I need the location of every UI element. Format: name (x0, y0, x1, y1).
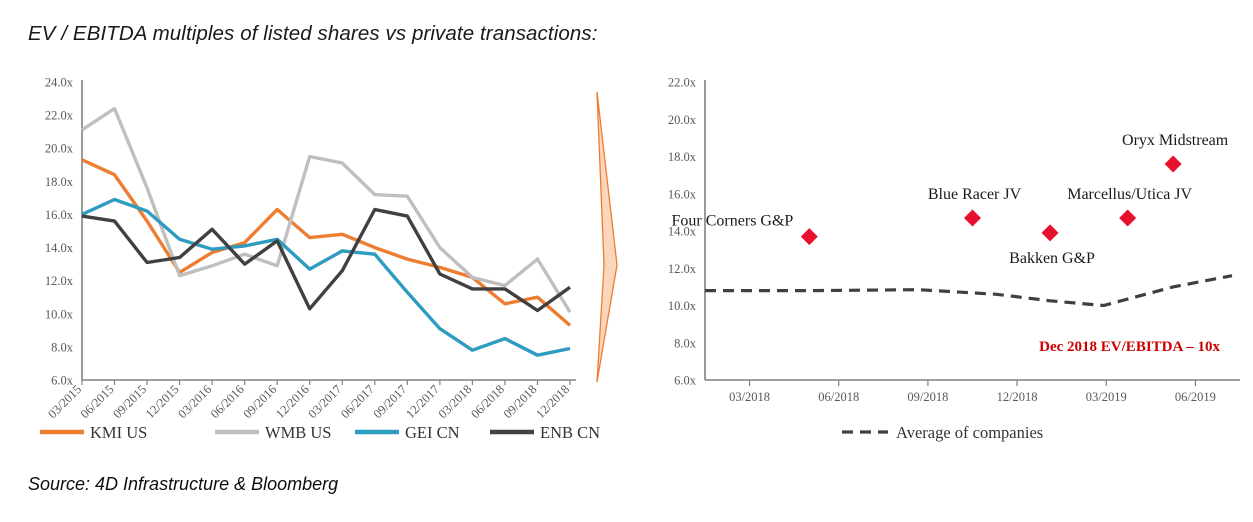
legend-item-kmi-us[interactable]: KMI US (40, 423, 147, 442)
page-title: EV / EBITDA multiples of listed shares v… (28, 22, 598, 46)
y-axis-tick-label: 8.0x (51, 340, 74, 354)
y-axis-tick-label: 20.0x (45, 142, 74, 156)
legend-label: WMB US (265, 423, 331, 442)
legend-label: Average of companies (896, 423, 1043, 442)
legend-label: KMI US (90, 423, 147, 442)
data-point-label: Four Corners G&P (672, 213, 794, 230)
y-axis-tick-label: 6.0x (674, 374, 697, 388)
x-axis-tick-label: 06/2016 (208, 382, 247, 421)
private-transactions-chart: 22.0x20.0x18.0x16.0x14.0x12.0x10.0x8.0x6… (620, 60, 1253, 475)
y-axis-tick-label: 22.0x (45, 109, 74, 123)
y-axis-tick-label: 14.0x (45, 241, 74, 255)
legend-item-enb-cn[interactable]: ENB CN (490, 423, 600, 442)
data-point-label: Blue Racer JV (928, 186, 1022, 203)
slide-root: EV / EBITDA multiples of listed shares v… (0, 0, 1253, 522)
legend-item-wmb-us[interactable]: WMB US (215, 423, 331, 442)
y-axis-tick-label: 24.0x (45, 76, 74, 90)
source-note: Source: 4D Infrastructure & Bloomberg (28, 474, 338, 495)
x-axis-tick-label: 06/2017 (338, 382, 377, 421)
x-axis-tick-label: 09/2018 (907, 390, 948, 404)
x-axis-tick-label: 03/2018 (436, 382, 475, 421)
legend-label: GEI CN (405, 423, 460, 442)
data-point-label: Oryx Midstream (1122, 132, 1229, 149)
y-axis-tick-label: 18.0x (45, 175, 74, 189)
x-axis-tick-label: 12/2018 (997, 390, 1038, 404)
legend-label: ENB CN (540, 423, 600, 442)
x-axis-tick-label: 09/2015 (110, 382, 149, 421)
data-point-oryx-midstream[interactable] (1165, 155, 1182, 172)
legend-item-gei-cn[interactable]: GEI CN (355, 423, 460, 442)
average-of-companies-line (705, 276, 1232, 306)
diamond-marker (1042, 224, 1059, 241)
ev-ebitda-annotation: Dec 2018 EV/EBITDA – 10x (1039, 339, 1220, 355)
x-axis-tick-label: 12/2015 (143, 382, 182, 421)
y-axis-tick-label: 10.0x (668, 299, 697, 313)
y-axis-tick-label: 12.0x (668, 262, 697, 276)
data-point-four-corners-g-p[interactable] (801, 228, 818, 245)
y-axis-tick-label: 16.0x (668, 187, 697, 201)
data-point-marcellus-utica-jv[interactable] (1119, 209, 1136, 226)
diamond-marker (801, 228, 818, 245)
diamond-marker (1165, 155, 1182, 172)
data-point-label: Bakken G&P (1009, 250, 1095, 267)
listed-shares-svg: 24.0x22.0x20.0x18.0x16.0x14.0x12.0x10.0x… (0, 60, 620, 475)
private-transactions-svg: 22.0x20.0x18.0x16.0x14.0x12.0x10.0x8.0x6… (620, 60, 1253, 475)
x-axis-tick-label: 06/2019 (1175, 390, 1216, 404)
x-axis-tick-label: 03/2017 (306, 382, 345, 421)
series-line-gei-cn (82, 200, 570, 356)
y-axis-tick-label: 22.0x (668, 76, 697, 90)
listed-shares-chart: 24.0x22.0x20.0x18.0x16.0x14.0x12.0x10.0x… (0, 60, 620, 475)
x-axis-tick-label: 03/2016 (175, 382, 214, 421)
series-line-wmb-us (82, 109, 570, 313)
data-point-bakken-g-p[interactable] (1042, 224, 1059, 241)
x-axis-tick-label: 09/2017 (371, 382, 410, 421)
transition-arrow-icon (597, 92, 617, 382)
x-axis-tick-label: 03/2019 (1086, 390, 1127, 404)
data-point-label: Marcellus/Utica JV (1067, 186, 1192, 203)
y-axis-tick-label: 12.0x (45, 274, 74, 288)
diamond-marker (1119, 209, 1136, 226)
y-axis-tick-label: 20.0x (668, 113, 697, 127)
x-axis-tick-label: 09/2018 (501, 382, 540, 421)
y-axis-tick-label: 18.0x (668, 150, 697, 164)
x-axis-tick-label: 03/2015 (45, 382, 84, 421)
x-axis-tick-label: 12/2018 (533, 382, 572, 421)
x-axis-tick-label: 09/2016 (240, 382, 279, 421)
diamond-marker (964, 209, 981, 226)
x-axis-tick-label: 06/2015 (78, 382, 117, 421)
y-axis-tick-label: 10.0x (45, 307, 74, 321)
x-axis-tick-label: 12/2017 (403, 382, 442, 421)
x-axis-tick-label: 06/2018 (468, 382, 507, 421)
series-line-kmi-us (82, 160, 570, 326)
x-axis-tick-label: 03/2018 (729, 390, 770, 404)
y-axis-tick-label: 8.0x (674, 336, 697, 350)
data-point-blue-racer-jv[interactable] (964, 209, 981, 226)
y-axis-tick-label: 16.0x (45, 208, 74, 222)
x-axis-tick-label: 06/2018 (818, 390, 859, 404)
legend-item-average-of-companies[interactable]: Average of companies (842, 423, 1043, 442)
x-axis-tick-label: 12/2016 (273, 382, 312, 421)
